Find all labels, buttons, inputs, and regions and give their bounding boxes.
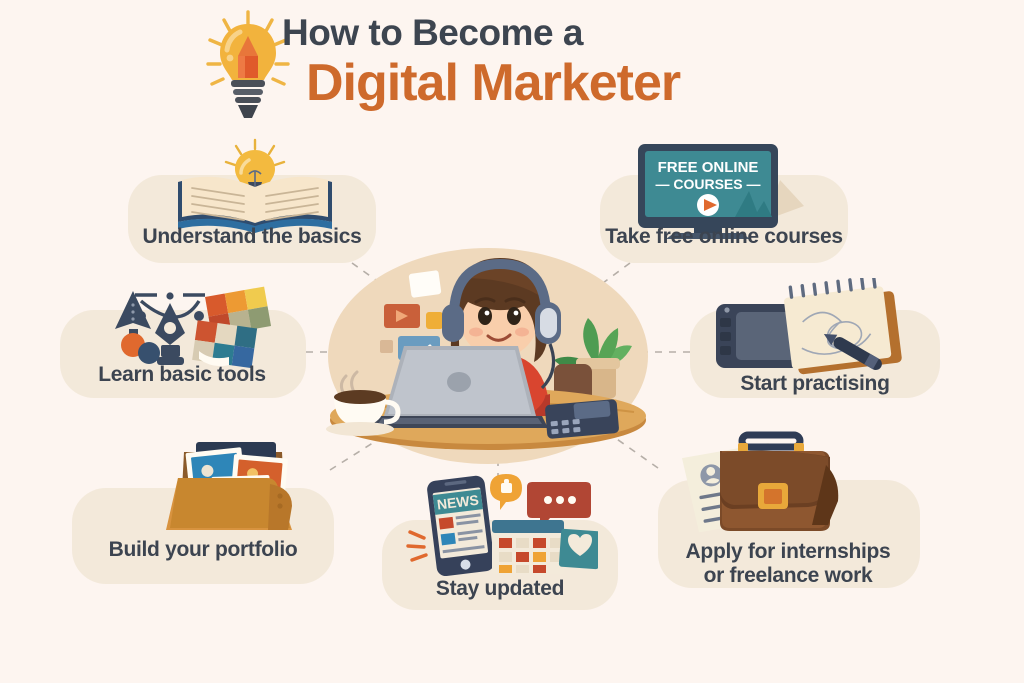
page-title: How to Become a Digital Marketer [282, 14, 752, 111]
step-label-basics: Understand the basics [128, 225, 376, 249]
news-phone-icon: NEWS [398, 470, 598, 585]
step-label-apply: Apply for internships or freelance work [654, 540, 922, 588]
title-line-2: Digital Marketer [306, 56, 752, 111]
step-label-courses: Take free online courses [598, 225, 850, 249]
tablet-sketchbook-icon [712, 278, 912, 383]
step-label-portfolio: Build your portfolio [72, 538, 334, 562]
monitor-line-2: — COURSES — [655, 176, 760, 192]
step-label-practise: Start practising [690, 372, 940, 396]
center-illustration [322, 244, 654, 464]
folder-photos-icon [140, 432, 320, 547]
monitor-line-1: FREE ONLINE [658, 159, 759, 176]
title-line-1: How to Become a [282, 14, 752, 51]
infographic-canvas: How to Become a Digital Marketer [0, 0, 1024, 683]
briefcase-resume-icon [670, 425, 870, 550]
step-label-updated: Stay updated [382, 577, 618, 601]
step-label-tools: Learn basic tools [58, 363, 306, 387]
